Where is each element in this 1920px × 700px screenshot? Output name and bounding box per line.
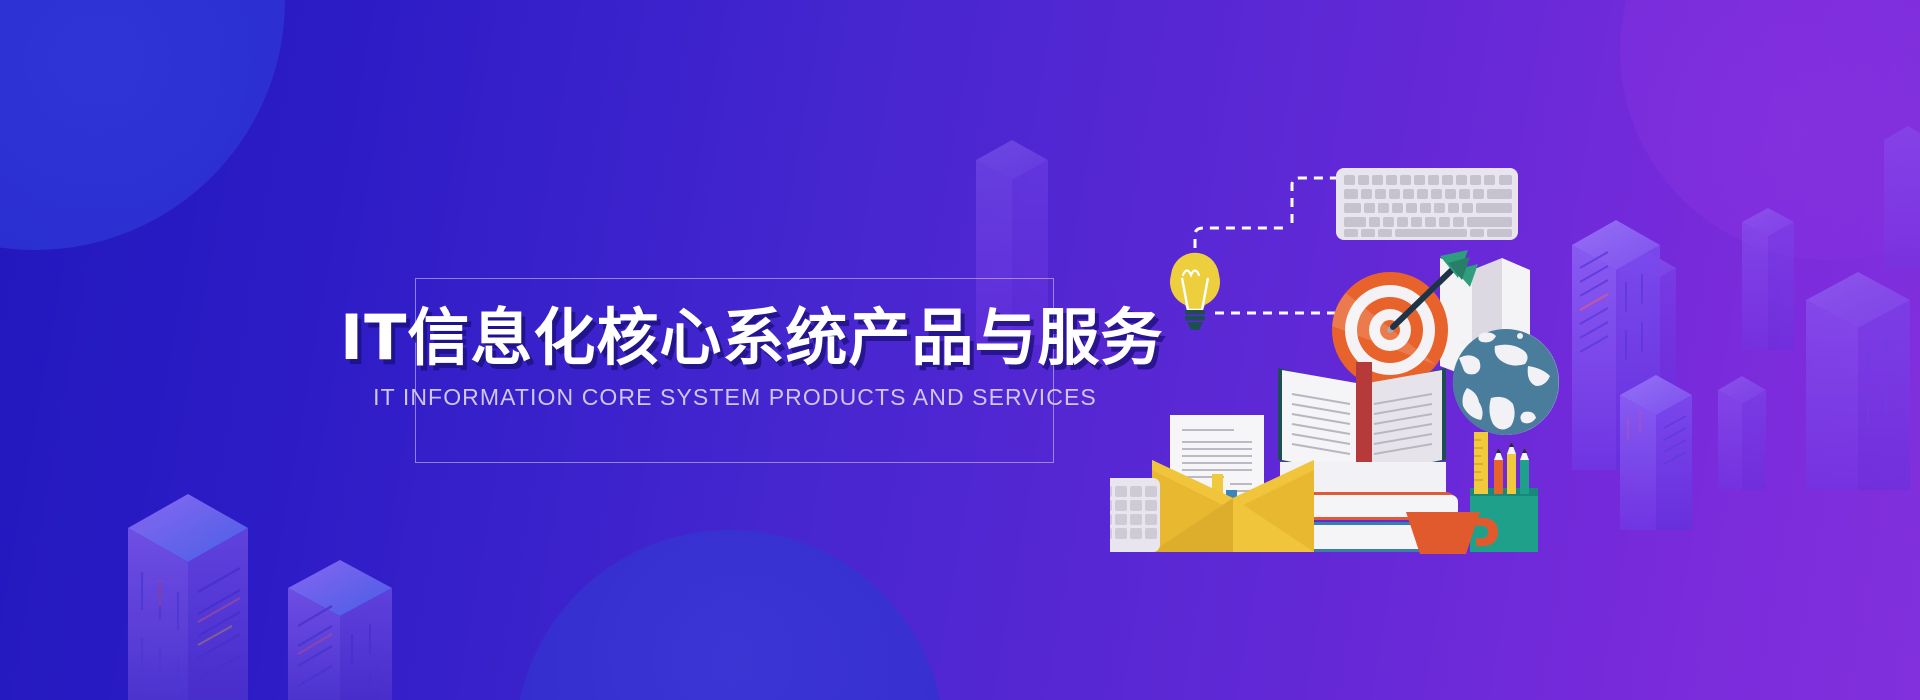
building-right-f [1718,376,1766,490]
building-right-d [1742,208,1794,350]
building-right-e [1884,126,1920,270]
page-subtitle: IT INFORMATION CORE SYSTEM PRODUCTS AND … [340,384,1130,411]
building-right-g [1806,272,1910,490]
globe-icon [1453,329,1559,435]
keyboard-top-icon [1336,168,1518,240]
building-left-tall [128,494,248,700]
page-title: IT信息化核心系统产品与服务 [340,305,1130,370]
keyboard-small-icon [1110,478,1160,552]
ruler-icon [1474,432,1488,494]
it-illustration [1110,130,1570,570]
building-right-c [1620,375,1692,530]
pencils-icon [1494,442,1529,494]
hero-banner: IT信息化核心系统产品与服务 IT INFORMATION CORE SYSTE… [0,0,1920,700]
building-left-short [288,560,392,700]
lightbulb-icon [1170,253,1220,330]
headline-block: IT信息化核心系统产品与服务 IT INFORMATION CORE SYSTE… [340,305,1130,411]
